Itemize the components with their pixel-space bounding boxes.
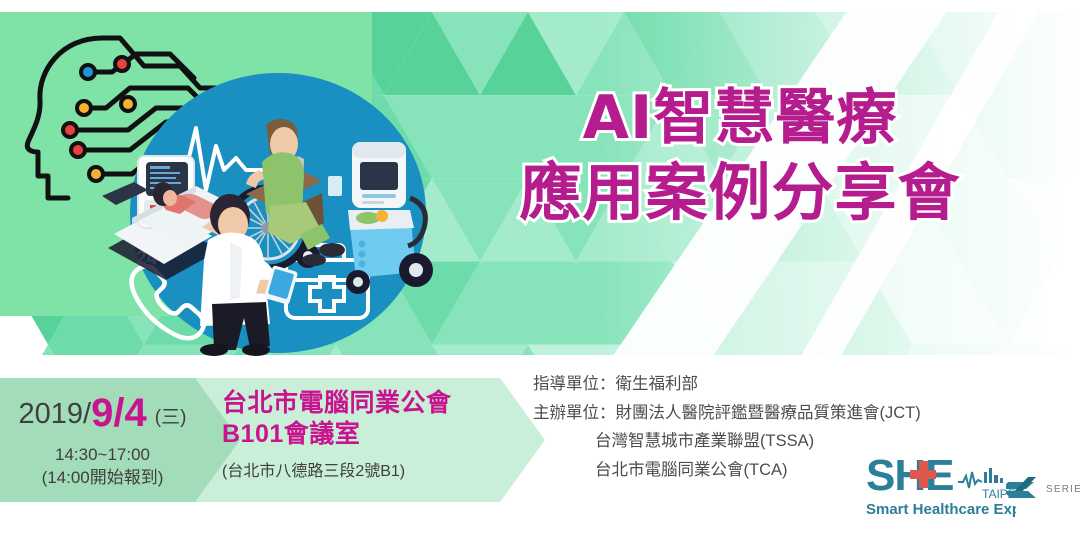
she-logo-mark: SHE TAIPEI Smart Healthcare Expo [866, 452, 1016, 524]
event-weekday: (三) [155, 407, 187, 428]
event-venue-block: 台北市電腦同業公會 B101會議室 (台北市八德路三段2號B1) [222, 388, 522, 481]
series-label: SERIES [1046, 484, 1080, 495]
title-line-1: AI智慧醫療 [430, 88, 1050, 162]
event-checkin-note: (14:00開始報到) [0, 467, 205, 490]
organizer-line: 指導單位：衛生福利部 [533, 370, 1003, 399]
title-block: AI智慧醫療 應用案例分享會 [430, 88, 1050, 298]
event-time-range: 14:30~17:00 [0, 444, 205, 467]
venue-name-line-2: B101會議室 [222, 419, 522, 450]
venue-address: (台北市八德路三段2號B1) [222, 457, 522, 481]
ecg-skyline-icon [958, 472, 982, 488]
event-date-line: 2019/9/4 (三) [0, 392, 205, 434]
healthcare-illustration: 24 [100, 58, 440, 358]
she-taipei-logo: SHE TAIPEI Smart Healthcare Expo [866, 452, 1076, 530]
organizer-line: 主辦單位：財團法人醫院評鑑暨醫療品質策進會(JCT) [533, 399, 1003, 428]
series-mark: SERIES [1006, 474, 1080, 508]
event-month-day: 9/4 [91, 391, 147, 435]
event-date-block: 2019/9/4 (三) 14:30~17:00 (14:00開始報到) [0, 392, 205, 490]
title-line-2: 應用案例分享會 [430, 162, 1050, 224]
series-z-icon [1006, 477, 1036, 498]
event-banner: 24 [0, 0, 1080, 540]
venue-name-line-1: 台北市電腦同業公會 [222, 388, 522, 419]
she-wordmark: SHE [866, 452, 953, 500]
she-tagline: Smart Healthcare Expo [866, 501, 1016, 518]
city-skyline-icon [984, 468, 1003, 483]
event-year: 2019/ [19, 398, 92, 430]
